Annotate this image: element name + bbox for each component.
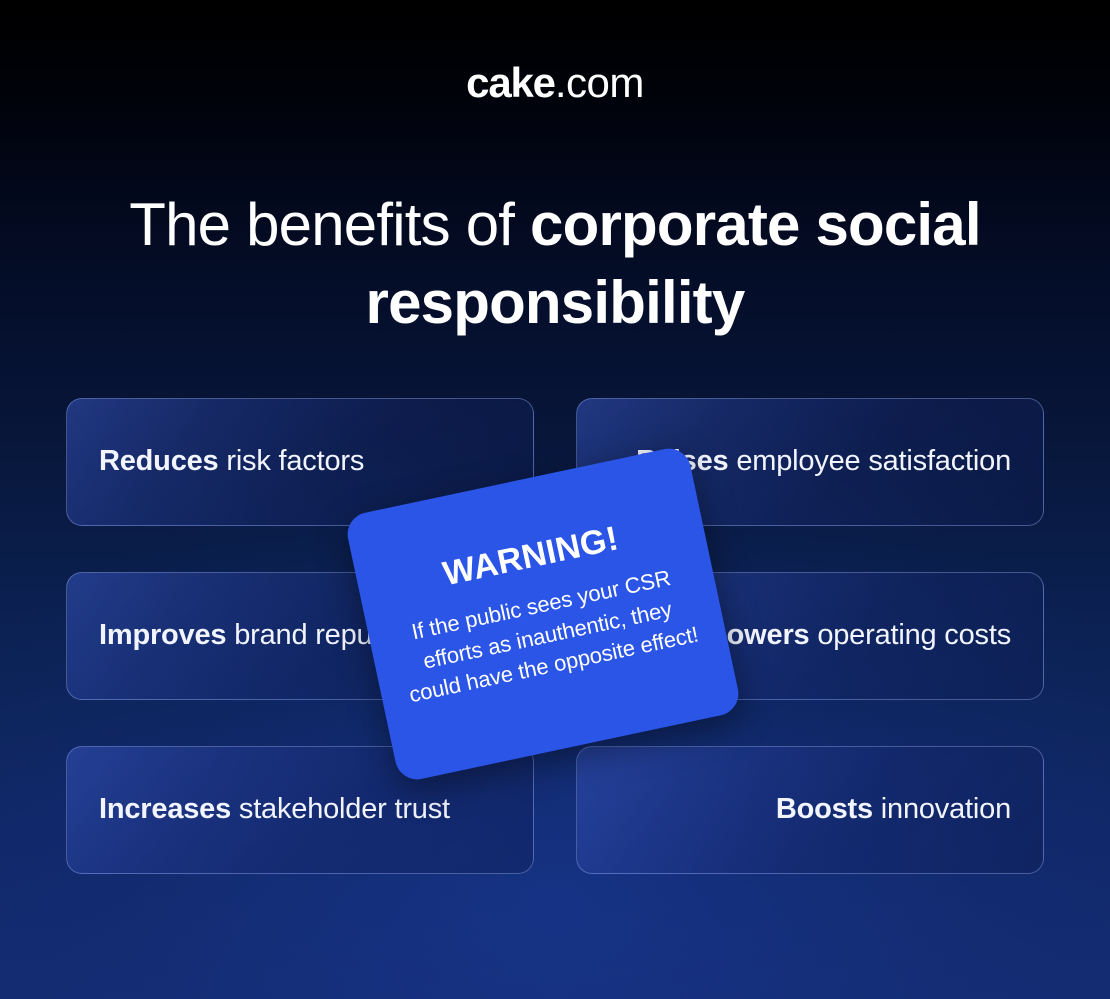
benefit-card-text: Increases stakeholder trust bbox=[99, 790, 450, 829]
benefit-card-strong-label: Reduces bbox=[99, 445, 219, 477]
benefit-card-strong-label: Increases bbox=[99, 793, 231, 825]
benefit-card-rest-label: employee satisfaction bbox=[728, 445, 1011, 477]
brand-logo: cake.com bbox=[0, 62, 1110, 104]
benefit-card-text: Lowers operating costs bbox=[709, 616, 1011, 655]
benefit-card-rest-label: risk factors bbox=[219, 445, 365, 477]
benefit-card-boosts-innovation: Boosts innovation bbox=[576, 746, 1044, 874]
headline-light-text: The benefits of bbox=[129, 191, 530, 258]
brand-name: cake bbox=[466, 59, 555, 106]
benefit-card-rest-label: stakeholder trust bbox=[231, 793, 450, 825]
benefit-card-rest-label: operating costs bbox=[809, 619, 1011, 651]
page-title: The benefits of corporate social respons… bbox=[115, 186, 995, 342]
warning-sticker-body: If the public sees your CSR efforts as i… bbox=[392, 560, 702, 711]
benefit-card-strong-label: Improves bbox=[99, 619, 226, 651]
benefit-card-text: Reduces risk factors bbox=[99, 442, 364, 481]
benefit-card-strong-label: Boosts bbox=[776, 793, 873, 825]
poster-canvas: cake.com The benefits of corporate socia… bbox=[0, 0, 1110, 999]
benefit-card-text: Boosts innovation bbox=[776, 790, 1011, 829]
brand-tld: .com bbox=[555, 59, 644, 106]
benefit-card-rest-label: innovation bbox=[873, 793, 1011, 825]
